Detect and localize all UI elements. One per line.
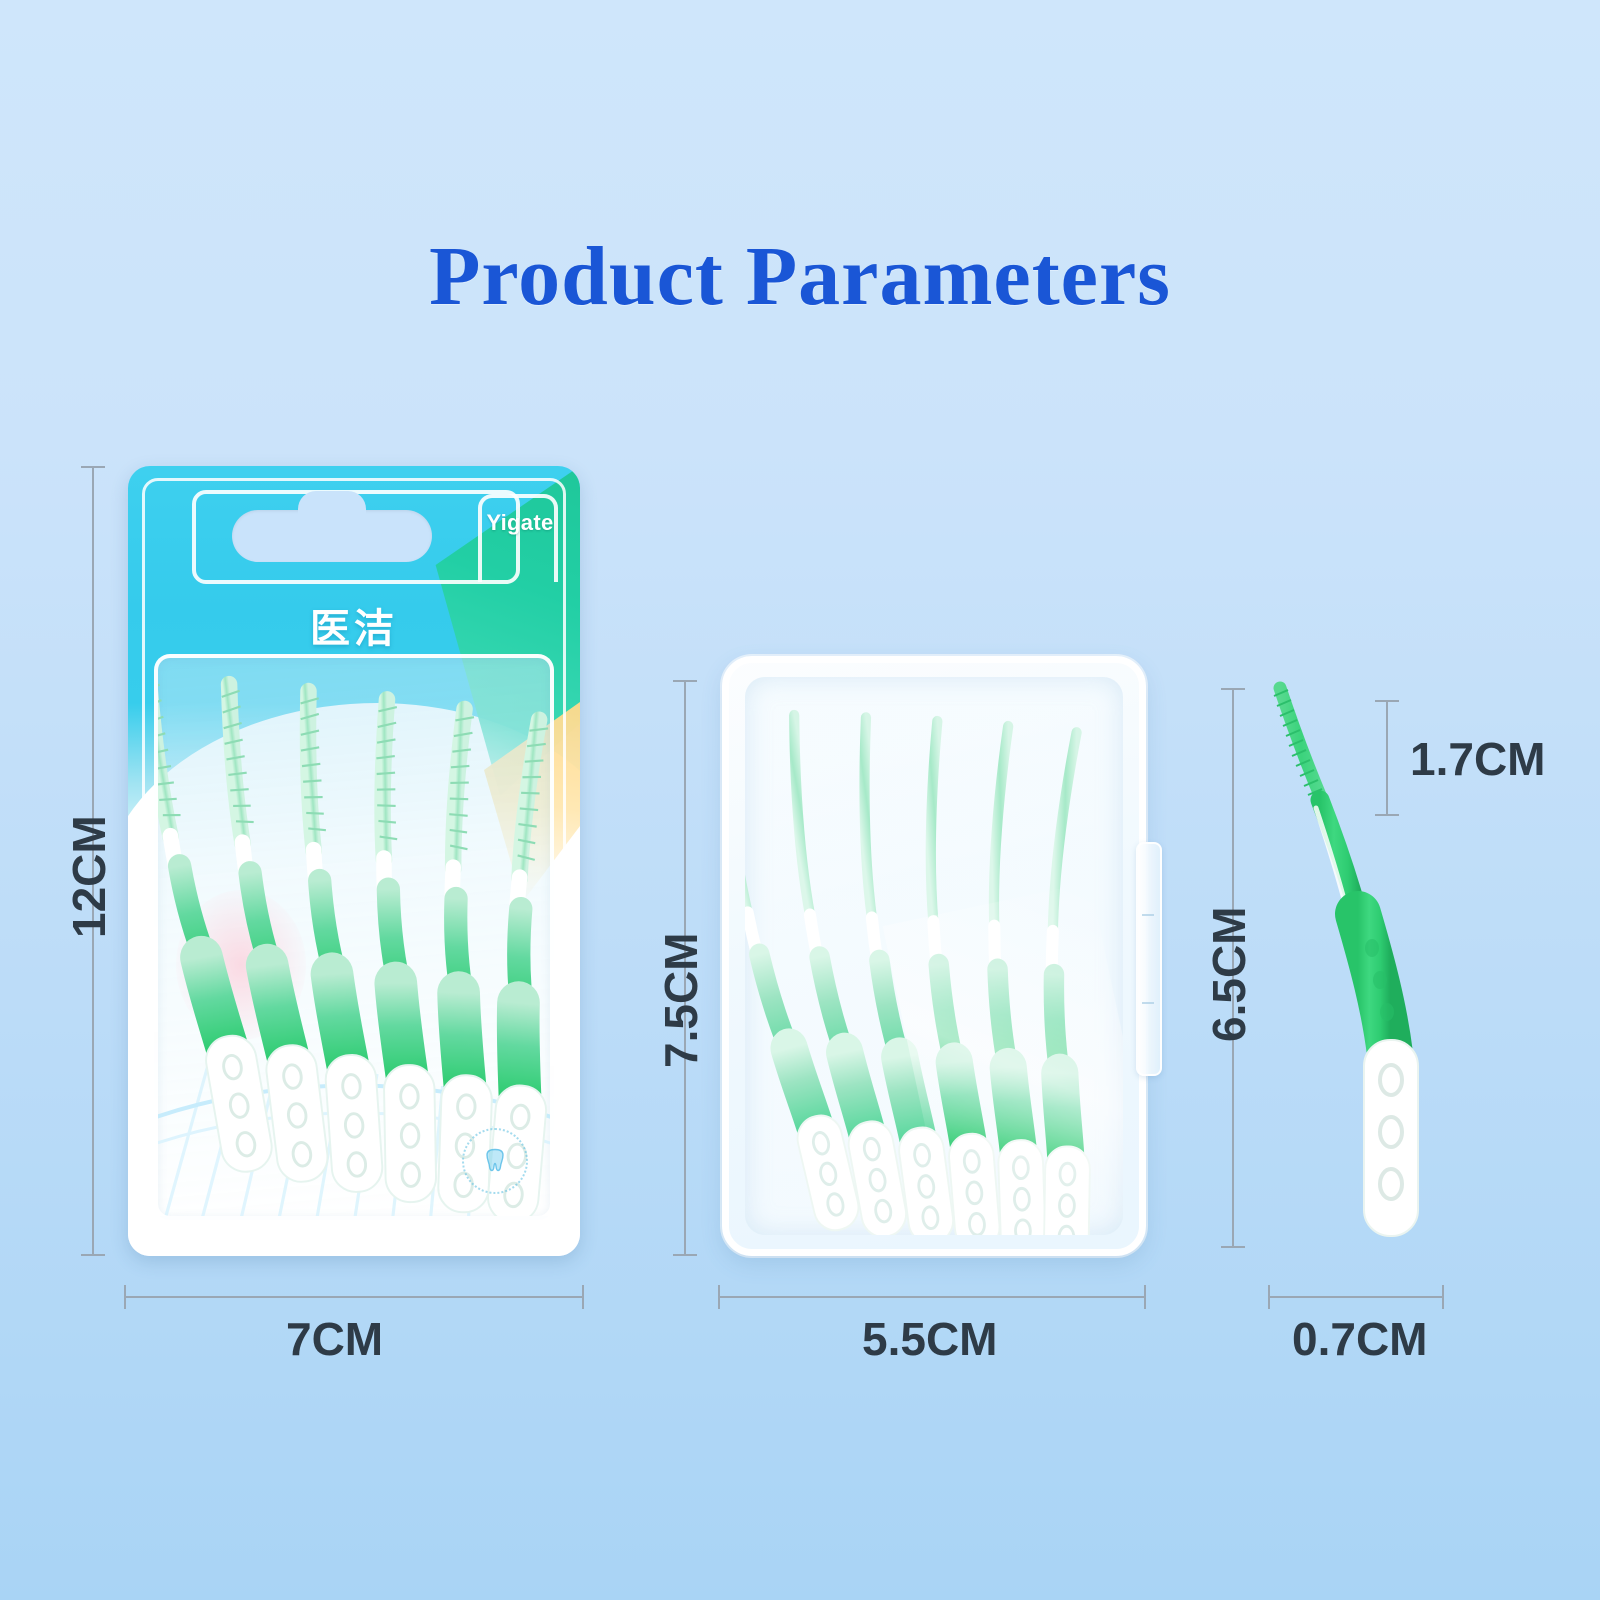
- product-blister-pack: Yigate 医洁: [128, 466, 580, 1256]
- case-height-label: 7.5CM: [654, 933, 708, 1068]
- product-travel-case: [722, 656, 1146, 1256]
- blister-tray: [154, 654, 554, 1220]
- brush-width-dimension-line: [1268, 1296, 1444, 1298]
- brush-height-label: 6.5CM: [1202, 907, 1256, 1042]
- brush-width-label: 0.7CM: [1292, 1312, 1427, 1366]
- brand-logo-latin: Yigate: [484, 510, 556, 536]
- brand-logo-chinese: 医洁: [128, 596, 580, 654]
- tooth-icon: [478, 1144, 512, 1178]
- case-brush-1: [745, 709, 863, 1235]
- bristle-length-dimension-line: [1386, 700, 1388, 816]
- brush-bristle-tip: [1280, 688, 1322, 800]
- case-inner-tray: [745, 677, 1123, 1235]
- bristle-length-label: 1.7CM: [1410, 732, 1545, 786]
- case-body: [722, 656, 1146, 1256]
- case-width-dimension-line: [718, 1296, 1146, 1298]
- case-hinge-latch: [1136, 842, 1162, 1076]
- brush-4: [375, 699, 436, 1203]
- page-title: Product Parameters: [0, 228, 1600, 325]
- blister-brand-tab: [478, 494, 558, 582]
- infographic-canvas: Product Parameters Yigate 医洁: [0, 0, 1600, 1600]
- euro-hang-hole: [232, 510, 432, 562]
- brush-handle: [1364, 1040, 1418, 1236]
- blister-width-dimension-line: [124, 1296, 584, 1298]
- blister-width-label: 7CM: [286, 1312, 383, 1366]
- blister-card-background: Yigate 医洁: [128, 466, 580, 1256]
- quality-seal-badge: [462, 1128, 528, 1194]
- blister-height-label: 12CM: [62, 815, 116, 938]
- case-width-label: 5.5CM: [862, 1312, 997, 1366]
